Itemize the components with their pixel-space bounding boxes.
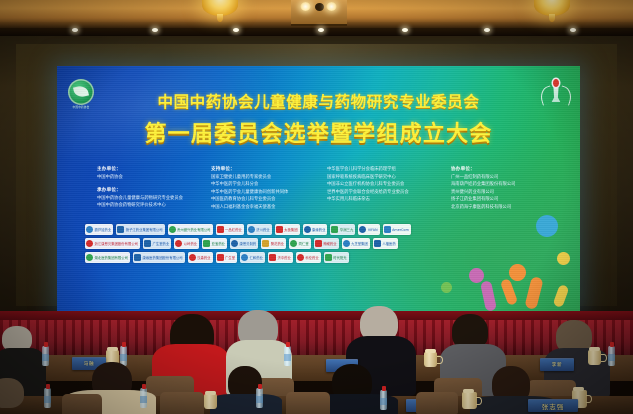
chair-front xyxy=(160,392,204,414)
projector-lens xyxy=(315,3,324,11)
sponsor-name: 同仁堂 xyxy=(299,241,309,246)
water-bottle xyxy=(284,346,291,366)
sponsor-logo-4: 一品红药业 xyxy=(216,224,244,235)
banner-credits: 主办单位：中国中药协会承办单位：中国中药协会儿童健康与药物研究专业委员会中国中药… xyxy=(97,166,547,217)
chair-front xyxy=(416,392,458,414)
sponsor-logo-22: 康缘医药集团股份有限公司 xyxy=(133,252,185,263)
sponsor-mark-icon xyxy=(86,254,93,261)
ceiling-projector-housing xyxy=(291,0,347,26)
name-plate-zhang-zhiqiang: 张志强 xyxy=(528,399,578,412)
sponsor-mark-icon xyxy=(117,226,124,233)
sponsor-mark-icon xyxy=(86,226,93,233)
sponsor-mark-icon xyxy=(276,226,283,233)
sponsor-mark-icon xyxy=(290,240,297,247)
water-bottle xyxy=(608,346,615,366)
credits-item: 中华中医药学会儿童健康协同创新共同体 xyxy=(211,189,323,197)
sponsor-name: 以岭药业 xyxy=(184,241,197,246)
credits-label: 承办单位： xyxy=(97,187,207,193)
credits-item: 国家卫健委儿童用药专家委员会 xyxy=(211,174,323,182)
sponsor-logo-20: 人福医药 xyxy=(373,238,398,249)
conference-hall-photo: 中国中药协会 中国中药协会儿童健康与药物研究专业委员会 第一届委员会选举暨学组成… xyxy=(0,0,633,414)
sponsor-logo-11: 浙江康恩贝集团股份有限公司 xyxy=(85,238,140,249)
credits-item: 扬子江药业集团有限公司 xyxy=(451,196,559,204)
sponsor-mark-icon xyxy=(144,240,151,247)
water-bottle xyxy=(140,388,147,408)
sponsor-logo-6: 太极集团 xyxy=(275,224,300,235)
sponsor-logo-28: 时代阳光 xyxy=(324,252,349,263)
sponsor-mark-icon xyxy=(217,254,224,261)
credits-item: 中华实用儿科临床杂志 xyxy=(327,196,447,204)
sponsor-mark-icon xyxy=(331,226,338,233)
credits-item: 中国人口福利基金会幸福天使基金 xyxy=(211,204,323,212)
sponsor-logo-26: 济中药业 xyxy=(268,252,293,263)
credits-group: 承办单位：中国中药协会儿童健康与药物研究专业委员会中国中药协会药物研究评价技术中… xyxy=(97,187,207,210)
sponsor-logo-strip: 葫芦娃药业扬子江药业集团有限公司贵州健兴药业有限公司一品红药业济川药业太极集团康… xyxy=(85,224,545,266)
credits-group: 支持单位：国家卫健委儿童用药专家委员会中华中医药学会儿科分会中华中医药学会儿童健… xyxy=(211,166,323,211)
tea-cup xyxy=(462,392,477,409)
sponsor-name: 仁和药业 xyxy=(250,255,263,260)
water-bottle xyxy=(44,388,51,408)
credits-label: 主办单位： xyxy=(97,166,207,172)
banner-heading-secondary: 第一届委员会选举暨学组成立大会 xyxy=(57,116,580,148)
water-bottle xyxy=(380,390,387,410)
credits-item: 广州一品红制药有限公司 xyxy=(451,174,559,182)
credits-item: 北京药海宁康医药科技有限公司 xyxy=(451,204,559,212)
sponsor-name: AmerCom xyxy=(392,228,409,232)
sponsor-mark-icon xyxy=(269,254,276,261)
downlight xyxy=(152,28,158,32)
sponsor-logo-7: 康缘药业 xyxy=(303,224,328,235)
sponsor-logo-27: 科伦药业 xyxy=(296,252,321,263)
tea-cup xyxy=(588,350,601,365)
attendee-head xyxy=(0,378,24,408)
sponsor-logo-21: 湖北医药集团有限公司 xyxy=(85,252,130,263)
credits-group: 协办单位：广州一品红制药有限公司海南葫芦娃药业集团股份有限公司贵州健兴药业有限公… xyxy=(451,166,559,211)
sponsor-name: 九芝堂集团 xyxy=(351,241,368,246)
water-bottle xyxy=(42,346,49,366)
sponsor-logo-19: 九芝堂集团 xyxy=(342,238,370,249)
sponsor-name: 康恩贝制药 xyxy=(240,241,257,246)
decorative-child-head xyxy=(509,264,526,281)
sponsor-mark-icon xyxy=(189,254,196,261)
sponsor-mark-icon xyxy=(248,226,255,233)
sponsor-mark-icon xyxy=(374,240,381,247)
sponsor-mark-icon xyxy=(325,254,332,261)
sponsor-name: 华润三九 xyxy=(340,227,353,232)
credits-item: 海南葫芦娃药业集团股份有限公司 xyxy=(451,181,559,189)
sponsor-name: 亚宝药业 xyxy=(212,241,225,246)
attendee-body xyxy=(210,394,282,414)
credits-label: 支持单位： xyxy=(211,166,323,172)
led-stage-banner: 中国中药协会 中国中药协会儿童健康与药物研究专业委员会 第一届委员会选举暨学组成… xyxy=(57,66,580,311)
sponsor-logo-12: 广生堂药业 xyxy=(143,238,171,249)
audience-area: 马融 李新 xyxy=(0,300,633,414)
sponsor-name: 康缘药业 xyxy=(312,227,325,232)
sponsor-mark-icon xyxy=(304,226,311,233)
chandelier-left xyxy=(196,0,244,24)
sponsor-mark-icon xyxy=(175,240,182,247)
sponsor-logo-23: 汉森药业 xyxy=(188,252,213,263)
sponsor-logo-17: 同仁堂 xyxy=(289,238,311,249)
sponsor-mark-icon xyxy=(169,226,176,233)
sponsor-logo-3: 贵州健兴药业有限公司 xyxy=(168,224,213,235)
credits-item: 世界中医药学会联合会经皮给药专业委员会 xyxy=(327,189,447,197)
credits-column: 协办单位：广州一品红制药有限公司海南葫芦娃药业集团股份有限公司贵州健兴药业有限公… xyxy=(451,166,559,217)
name-plate-back: 李新 xyxy=(540,358,574,371)
credits-item: 中国中药协会药物研究评价技术中心 xyxy=(97,202,207,210)
sponsor-name: 时代阳光 xyxy=(333,255,346,260)
downlight xyxy=(233,28,239,32)
credits-item: 贵州健兴药业有限公司 xyxy=(451,189,559,197)
sponsor-logo-9: VIFAN xyxy=(358,224,379,235)
credits-item: 中国非公立医疗机构协会儿科专业委员会 xyxy=(327,181,447,189)
sponsor-mark-icon xyxy=(359,226,366,233)
chandelier-right xyxy=(528,0,576,24)
sponsor-row: 葫芦娃药业扬子江药业集团有限公司贵州健兴药业有限公司一品红药业济川药业太极集团康… xyxy=(85,224,545,235)
decorative-circle xyxy=(557,252,570,265)
credits-item: 中国中药协会儿童健康与药物研究专业委员会 xyxy=(97,195,207,203)
downlight xyxy=(484,28,490,32)
downlight xyxy=(72,28,78,32)
sponsor-logo-10: AmerCom xyxy=(383,224,411,235)
sponsor-logo-25: 仁和药业 xyxy=(240,252,265,263)
sponsor-mark-icon xyxy=(315,240,322,247)
sponsor-logo-16: 葵花药业 xyxy=(261,238,286,249)
sponsor-name: 济川药业 xyxy=(256,227,269,232)
sponsor-logo-2: 扬子江药业集团有限公司 xyxy=(116,224,164,235)
credits-item: 中国中药协会 xyxy=(97,174,207,182)
tea-cup xyxy=(424,352,437,367)
projector-lamp-left xyxy=(300,2,311,11)
sponsor-name: 湖北医药集团有限公司 xyxy=(95,255,128,260)
credits-group: 中华医学会儿科学分会临床药理学组国家呼吸系统疾病临床医学研究中心中国非公立医疗机… xyxy=(327,166,447,204)
sponsor-row: 浙江康恩贝集团股份有限公司广生堂药业以岭药业亚宝药业康恩贝制药葵花药业同仁堂神威… xyxy=(85,238,545,249)
sponsor-logo-18: 神威药业 xyxy=(314,238,339,249)
credits-column: 中华医学会儿科学分会临床药理学组国家呼吸系统疾病临床医学研究中心中国非公立医疗机… xyxy=(327,166,447,217)
downlight xyxy=(402,28,408,32)
sponsor-name: 济中药业 xyxy=(277,255,290,260)
chair-front xyxy=(286,392,330,414)
chair-front xyxy=(62,394,102,414)
credits-item: 中华医学会儿科学分会临床药理学组 xyxy=(327,166,447,174)
projector-lamp-right xyxy=(326,2,337,11)
sponsor-mark-icon xyxy=(384,226,391,233)
sponsor-name: 浙江康恩贝集团股份有限公司 xyxy=(95,241,139,246)
sponsor-mark-icon xyxy=(86,240,93,247)
sponsor-logo-24: 广生堂 xyxy=(216,252,238,263)
sponsor-name: 葫芦娃药业 xyxy=(95,227,112,232)
credits-item: 中国医药教育协会儿科专业委员会 xyxy=(211,196,323,204)
tea-cup xyxy=(204,394,217,409)
sponsor-logo-1: 葫芦娃药业 xyxy=(85,224,113,235)
sponsor-logo-15: 康恩贝制药 xyxy=(230,238,258,249)
sponsor-name: 康缘医药集团股份有限公司 xyxy=(142,255,182,260)
sponsor-mark-icon xyxy=(262,240,269,247)
sponsor-mark-icon xyxy=(203,240,210,247)
sponsor-name: 人福医药 xyxy=(382,241,395,246)
water-bottle xyxy=(256,388,263,408)
sponsor-name: 神威药业 xyxy=(323,241,336,246)
sponsor-mark-icon xyxy=(241,254,248,261)
credits-item: 国家呼吸系统疾病临床医学研究中心 xyxy=(327,174,447,182)
sponsor-name: 太极集团 xyxy=(284,227,297,232)
sponsor-name: 贵州健兴药业有限公司 xyxy=(177,227,210,232)
downlight xyxy=(318,28,324,32)
sponsor-name: 汉森药业 xyxy=(197,255,210,260)
sponsor-name: 广生堂 xyxy=(225,255,235,260)
sponsor-logo-5: 济川药业 xyxy=(247,224,272,235)
sponsor-mark-icon xyxy=(297,254,304,261)
sponsor-name: 广生堂药业 xyxy=(153,241,170,246)
sponsor-logo-14: 亚宝药业 xyxy=(202,238,227,249)
banner-heading-primary: 中国中药协会儿童健康与药物研究专业委员会 xyxy=(57,90,580,112)
sponsor-name: 科伦药业 xyxy=(305,255,318,260)
sponsor-name: 扬子江药业集团有限公司 xyxy=(126,227,163,232)
sponsor-name: 一品红药业 xyxy=(225,227,242,232)
sponsor-name: 葵花药业 xyxy=(271,241,284,246)
sponsor-mark-icon xyxy=(217,226,224,233)
sponsor-mark-icon xyxy=(343,240,350,247)
decorative-child-head xyxy=(469,268,484,283)
decorative-circle xyxy=(441,282,452,293)
credits-item: 中华中医药学会儿科分会 xyxy=(211,181,323,189)
credits-column: 主办单位：中国中药协会承办单位：中国中药协会儿童健康与药物研究专业委员会中国中药… xyxy=(97,166,207,217)
downlight xyxy=(570,28,576,32)
credits-column: 支持单位：国家卫健委儿童用药专家委员会中华中医药学会儿科分会中华中医药学会儿童健… xyxy=(211,166,323,217)
credits-group: 主办单位：中国中药协会 xyxy=(97,166,207,181)
sponsor-name: VIFAN xyxy=(368,228,378,232)
sponsor-mark-icon xyxy=(134,254,141,261)
sponsor-logo-13: 以岭药业 xyxy=(174,238,199,249)
sponsor-logo-8: 华润三九 xyxy=(330,224,355,235)
sponsor-mark-icon xyxy=(231,240,238,247)
credits-label: 协办单位： xyxy=(451,166,559,172)
sponsor-row: 湖北医药集团有限公司康缘医药集团股份有限公司汉森药业广生堂仁和药业济中药业科伦药… xyxy=(85,252,545,263)
